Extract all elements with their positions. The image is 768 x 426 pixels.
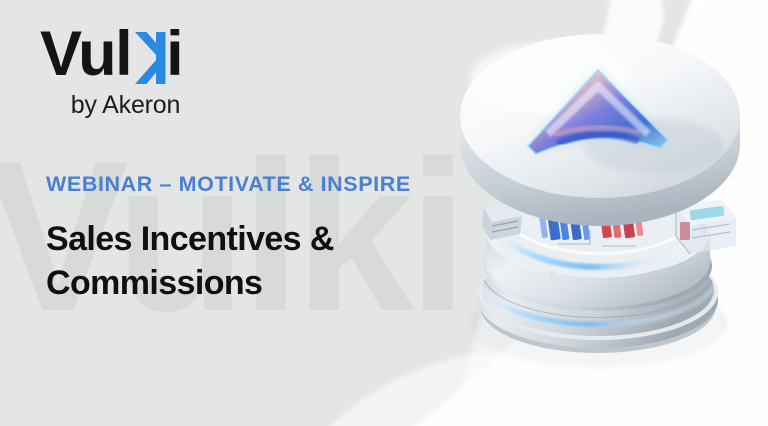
product-device-render (440, 0, 768, 394)
logo-wordmark: Vul i (40, 25, 182, 87)
logo-text-after: i (166, 25, 182, 85)
device-top-lid (460, 34, 740, 226)
webinar-banner: Vulki Vul i by Akeron WEBINAR – MOTIVATE… (0, 0, 768, 426)
brand-logo: Vul i by Akeron (40, 25, 182, 120)
eyebrow-label: WEBINAR – MOTIVATE & INSPIRE (46, 172, 411, 197)
headline-line-1: Sales Incentives & (46, 218, 334, 262)
logo-k-glyph-icon (131, 25, 167, 87)
logo-tagline: by Akeron (40, 91, 182, 120)
logo-text-before: Vul (40, 25, 131, 85)
page-title: Sales Incentives & Commissions (46, 218, 334, 305)
headline-line-2: Commissions (46, 262, 334, 306)
